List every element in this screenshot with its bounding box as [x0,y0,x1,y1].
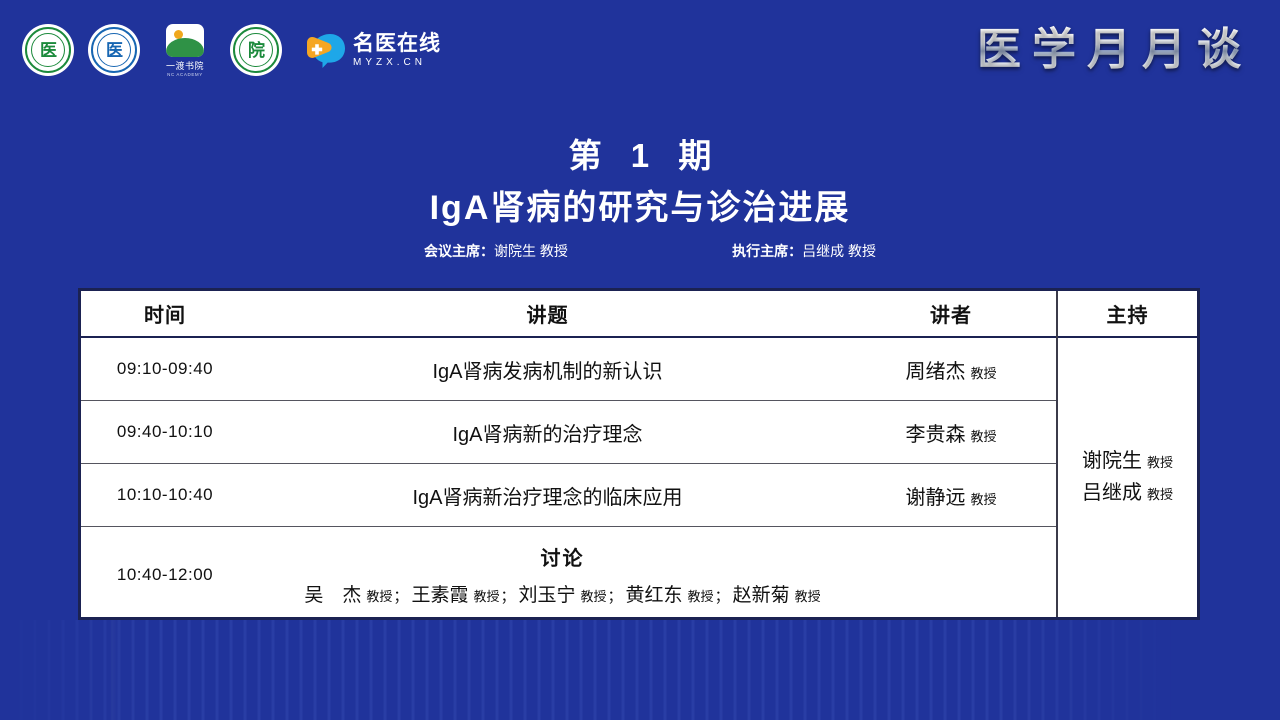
host-name: 谢院生 [1082,450,1142,472]
page-title: IgA肾病的研究与诊治进展 [0,180,1280,229]
discussion-separator: ； [393,588,408,605]
partner-logo-emblem-green-2: 院 [230,24,282,76]
session-speaker-title: 教授 [970,429,996,444]
session-speaker: 周绪杰教授 [846,355,1056,384]
discussion-participant-name: 吴 杰 [304,585,361,606]
session-speaker-name: 谢静远 [905,487,965,509]
session-speaker: 谢静远教授 [846,481,1056,510]
emblem-glyph-icon: 医 [106,42,122,59]
discussion-time: 10:40-12:00 [81,565,249,585]
host-title: 教授 [1147,487,1173,502]
conference-chair-label: 会议主席： [424,243,494,259]
brand-title: 医学月月谈 [977,22,1252,78]
host-names: 谢院生教授 吕继成教授 [1058,338,1197,617]
discussion-participant-name: 赵新菊 [733,585,790,606]
myzx-cn-label: 名医在线 [353,33,441,54]
schedule-header-row: 时间 讲题 讲者 [81,291,1056,338]
session-time: 10:10-10:40 [81,485,249,505]
host-entry: 吕继成教授 [1082,478,1173,510]
academy-badge-en-label: NC ACADEMY [167,72,203,77]
session-speaker-title: 教授 [970,492,996,507]
academy-badge-icon [166,24,204,57]
discussion-separator: ； [608,588,623,605]
academy-badge-cn-label: 一渡书院 [166,59,204,72]
session-speaker: 李贵森教授 [846,418,1056,447]
host-entry: 谢院生教授 [1082,446,1173,478]
discussion-participant-title: 教授 [473,589,499,604]
discussion-participant-title: 教授 [581,589,607,604]
column-header-topic: 讲题 [249,299,846,328]
discussion-participant-name: 王素霞 [411,585,468,606]
partner-logo-academy-badge: 一渡书院 NC ACADEMY [154,23,216,77]
column-header-speaker: 讲者 [846,299,1056,328]
discussion-participant-title: 教授 [366,589,392,604]
column-header-time: 时间 [81,299,249,328]
discussion-participant-title: 教授 [688,589,714,604]
table-row: 09:40-10:10 IgA肾病新的治疗理念 李贵森教授 [81,401,1056,464]
session-speaker-name: 周绪杰 [905,361,965,383]
myzx-logo: 名医在线 MYZX.CN [304,31,441,69]
session-speaker-title: 教授 [970,366,996,381]
myzx-en-label: MYZX.CN [353,58,441,68]
discussion-participants: 吴 杰教授；王素霞教授；刘玉宁教授；黄红东教授；赵新菊教授 [304,580,820,607]
myzx-play-bubble-icon [304,31,346,69]
session-speaker-name: 李贵森 [905,424,965,446]
emblem-glyph-icon: 医 [40,42,56,59]
conference-chair: 会议主席：谢院生 教授 [424,241,568,261]
schedule-main-columns: 时间 讲题 讲者 09:10-09:40 IgA肾病发病机制的新认识 周绪杰教授… [81,291,1058,617]
session-topic: IgA肾病新的治疗理念 [249,418,846,447]
conference-chair-name: 谢院生 教授 [494,243,568,259]
myzx-logo-text: 名医在线 MYZX.CN [353,33,441,68]
chair-row: 会议主席：谢院生 教授 执行主席：吕继成 教授 [424,241,876,261]
issue-number: 第 1 期 [0,129,1280,177]
executive-chair: 执行主席：吕继成 教授 [732,241,876,261]
host-name: 吕继成 [1082,482,1142,504]
session-time: 09:10-09:40 [81,359,249,379]
table-row-discussion: 10:40-12:00 讨论 吴 杰教授；王素霞教授；刘玉宁教授；黄红东教授；赵… [81,527,1056,622]
schedule-table: 时间 讲题 讲者 09:10-09:40 IgA肾病发病机制的新认识 周绪杰教授… [78,288,1200,620]
session-topic: IgA肾病发病机制的新认识 [249,355,846,384]
column-header-host: 主持 [1058,291,1197,338]
executive-chair-label: 执行主席： [732,243,802,259]
bottom-stripe-decoration [0,620,1280,720]
partner-logo-emblem-blue: 医 [88,24,140,76]
table-row: 09:10-09:40 IgA肾病发病机制的新认识 周绪杰教授 [81,338,1056,401]
discussion-separator: ； [500,588,515,605]
table-row: 10:10-10:40 IgA肾病新治疗理念的临床应用 谢静远教授 [81,464,1056,527]
discussion-participant-name: 黄红东 [626,585,683,606]
discussion-separator: ； [715,588,730,605]
slide-root: 医 医 一渡书院 NC ACADEMY 院 [0,0,1280,720]
executive-chair-name: 吕继成 教授 [802,243,876,259]
session-time: 09:40-10:10 [81,422,249,442]
hill-icon [166,38,204,57]
discussion-body: 讨论 吴 杰教授；王素霞教授；刘玉宁教授；黄红东教授；赵新菊教授 [249,542,1056,607]
emblem-glyph-icon: 院 [248,42,264,59]
session-topic: IgA肾病新治疗理念的临床应用 [249,481,846,510]
partner-logo-emblem-green-1: 医 [22,24,74,76]
discussion-participant-name: 刘玉宁 [518,585,575,606]
discussion-participant-title: 教授 [795,589,821,604]
partner-logo-strip: 医 医 一渡书院 NC ACADEMY 院 [22,21,441,79]
schedule-host-column: 主持 谢院生教授 吕继成教授 [1058,291,1197,617]
host-title: 教授 [1147,455,1173,470]
discussion-heading: 讨论 [541,542,585,571]
